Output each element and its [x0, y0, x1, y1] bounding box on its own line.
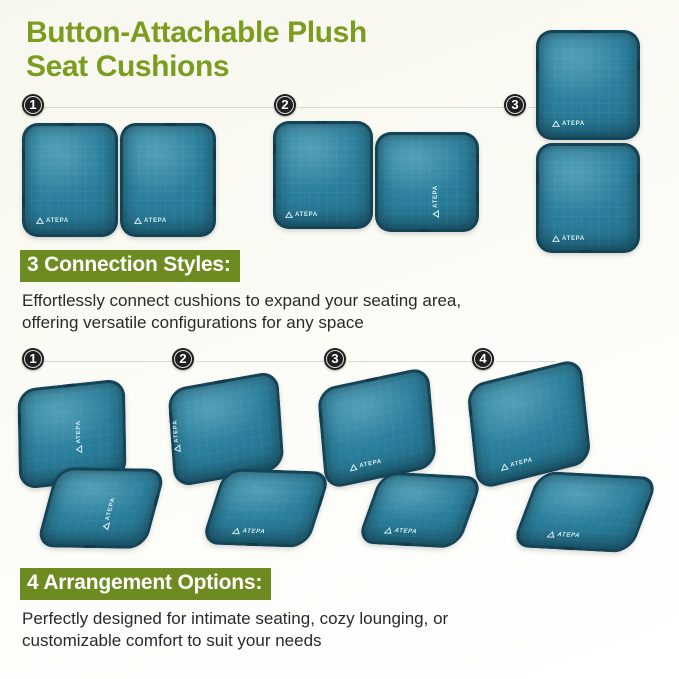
attach-nub	[469, 499, 479, 510]
arrangement-badge-3[interactable]: 3	[324, 348, 346, 370]
attach-nub	[536, 60, 539, 71]
connection-body-line-2: offering versatile configurations for an…	[22, 312, 662, 334]
attach-nub	[22, 195, 25, 206]
brand-logo: ATEPA	[552, 120, 585, 128]
cushion: ATEPA	[120, 123, 216, 237]
brand-logo: ATEPA	[172, 419, 182, 453]
brand-logo: ATEPA	[500, 456, 533, 472]
connection-badge-1[interactable]: 1	[22, 94, 44, 116]
attach-nub	[398, 543, 412, 549]
arrangement-body-line-1: Perfectly designed for intimate seating,…	[22, 608, 662, 630]
brand-logo: ATEPA	[383, 527, 418, 537]
attach-nub	[63, 380, 75, 387]
arrangement-heading: 4 Arrangement Options:	[20, 568, 271, 600]
attach-nub	[561, 546, 575, 553]
arrangement-heading-wrap: 4 Arrangement Options:	[20, 568, 271, 600]
attach-nub	[476, 192, 479, 203]
rail-connector-1	[44, 107, 276, 108]
connection-badge-3[interactable]: 3	[504, 94, 526, 116]
page-title: Button-Attachable Plush Seat Cushions	[26, 16, 546, 84]
brand-logo: ATEPA	[231, 527, 266, 536]
brand-logo-text: ATEPA	[562, 121, 585, 127]
attach-nub	[213, 149, 216, 160]
connection-heading: 3 Connection Styles:	[20, 250, 240, 282]
attach-nub	[644, 499, 654, 510]
brand-logo-text: ATEPA	[46, 218, 69, 224]
brand-logo-text: ATEPA	[433, 185, 439, 208]
cushion-backrest: ATEPA	[317, 366, 437, 490]
arrangement-body-line-2: customizable comfort to suit your needs	[22, 630, 662, 652]
brand-logo-text: ATEPA	[556, 532, 581, 539]
attach-nub	[580, 30, 592, 33]
brand-logo: ATEPA	[552, 235, 585, 243]
attach-nub	[17, 413, 21, 425]
attach-nub	[637, 173, 640, 184]
attach-nub	[154, 495, 163, 506]
cushion-seat: ATEPA	[511, 471, 659, 553]
brand-logo: ATEPA	[134, 217, 167, 225]
attach-nub	[83, 545, 97, 549]
brand-logo: ATEPA	[101, 497, 118, 530]
brand-logo: ATEPA	[546, 530, 581, 540]
cushion-seat: ATEPA	[200, 468, 331, 548]
cushion-seat: ATEPA	[356, 471, 484, 548]
attach-nub	[22, 149, 25, 160]
cushion-seat: ATEPA	[36, 467, 167, 549]
brand-logo-text: ATEPA	[144, 218, 167, 224]
cushion: ATEPA	[536, 143, 640, 253]
attach-nub	[273, 187, 276, 198]
attach-nub	[273, 143, 276, 154]
attach-nub	[637, 60, 640, 71]
rail-connector-1	[44, 361, 172, 362]
connection-heading-wrap: 3 Connection Styles:	[20, 250, 240, 282]
attach-nub	[317, 496, 326, 507]
brand-logo: ATEPA	[432, 185, 440, 218]
cushion: ATEPA	[22, 123, 118, 237]
page-title-line-2: Seat Cushions	[26, 50, 546, 84]
arrangement-body-copy: Perfectly designed for intimate seating,…	[22, 608, 662, 653]
attach-nub	[164, 123, 176, 126]
cushion: ATEPA	[536, 30, 640, 140]
attach-nub	[317, 411, 323, 423]
attach-nub	[536, 173, 539, 184]
rail-connector-2	[298, 107, 506, 108]
brand-logo: ATEPA	[75, 420, 84, 454]
attach-nub	[580, 250, 592, 253]
cushion: ATEPA	[273, 121, 373, 229]
rail-connector-4	[496, 361, 556, 362]
attach-nub	[365, 374, 377, 383]
brand-logo-text: ATEPA	[241, 528, 266, 535]
attach-nub	[62, 123, 74, 126]
brand-logo-text: ATEPA	[359, 459, 382, 470]
arrangement-badge-4[interactable]: 4	[472, 348, 494, 370]
brand-logo: ATEPA	[36, 217, 69, 225]
infographic-page: Button-Attachable Plush Seat Cushions 1 …	[0, 0, 679, 679]
attach-nub	[466, 405, 472, 417]
attach-nub	[315, 121, 327, 124]
cushion-backrest: ATEPA	[466, 358, 591, 491]
connection-body-copy: Effortlessly connect cushions to expand …	[22, 290, 662, 335]
attach-nub	[419, 229, 431, 232]
brand-logo-text: ATEPA	[173, 419, 181, 443]
attach-nub	[245, 543, 259, 548]
attach-nub	[214, 376, 226, 384]
connection-body-line-1: Effortlessly connect cushions to expand …	[22, 290, 662, 312]
brand-logo-text: ATEPA	[510, 457, 533, 469]
attach-nub	[213, 195, 216, 206]
brand-logo-text: ATEPA	[76, 420, 82, 444]
cushion: ATEPA	[375, 132, 479, 232]
brand-logo-text: ATEPA	[562, 236, 585, 242]
rail-connector-2	[196, 361, 324, 362]
attach-nub	[476, 154, 479, 165]
brand-logo-text: ATEPA	[105, 497, 117, 520]
connection-badge-2[interactable]: 2	[274, 94, 296, 116]
brand-logo-text: ATEPA	[295, 212, 318, 218]
arrangement-badge-2[interactable]: 2	[172, 348, 194, 370]
arrangement-badge-1[interactable]: 1	[22, 348, 44, 370]
rail-connector-3	[348, 361, 472, 362]
brand-logo-text: ATEPA	[393, 528, 418, 535]
brand-logo: ATEPA	[349, 458, 382, 473]
brand-logo: ATEPA	[285, 211, 318, 219]
page-title-line-1: Button-Attachable Plush	[26, 16, 546, 50]
